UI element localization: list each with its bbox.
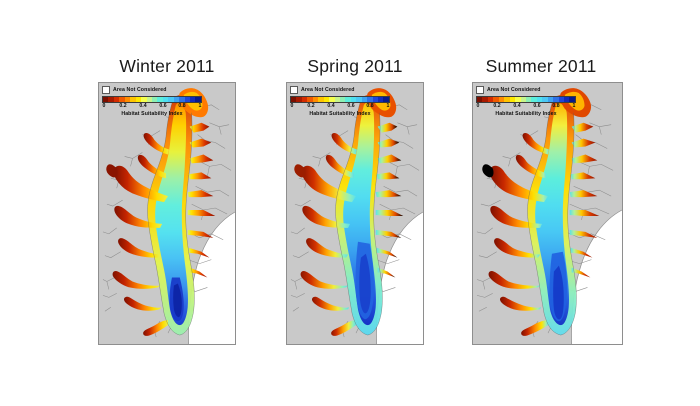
panel-spring: Spring 2011 <box>286 55 424 77</box>
map-art-summer <box>473 83 622 344</box>
panel-title-winter: Winter 2011 <box>98 55 236 77</box>
map-art-winter <box>99 83 235 344</box>
map-winter[interactable]: Area Not Considered 0 0.2 0.4 0.6 0.8 <box>98 82 236 345</box>
map-summer[interactable]: Area Not Considered 0 0.2 0.4 0.6 0.8 <box>472 82 623 345</box>
map-spring[interactable]: Area Not Considered 0 0.2 0.4 0.6 0.8 <box>286 82 424 345</box>
panel-summer: Summer 2011 <box>472 55 610 77</box>
panel-winter: Winter 2011 <box>98 55 236 77</box>
figure-canvas: Winter 2011 <box>0 0 700 406</box>
map-art-spring <box>287 83 423 344</box>
panel-title-summer: Summer 2011 <box>472 55 610 77</box>
panel-title-spring: Spring 2011 <box>286 55 424 77</box>
